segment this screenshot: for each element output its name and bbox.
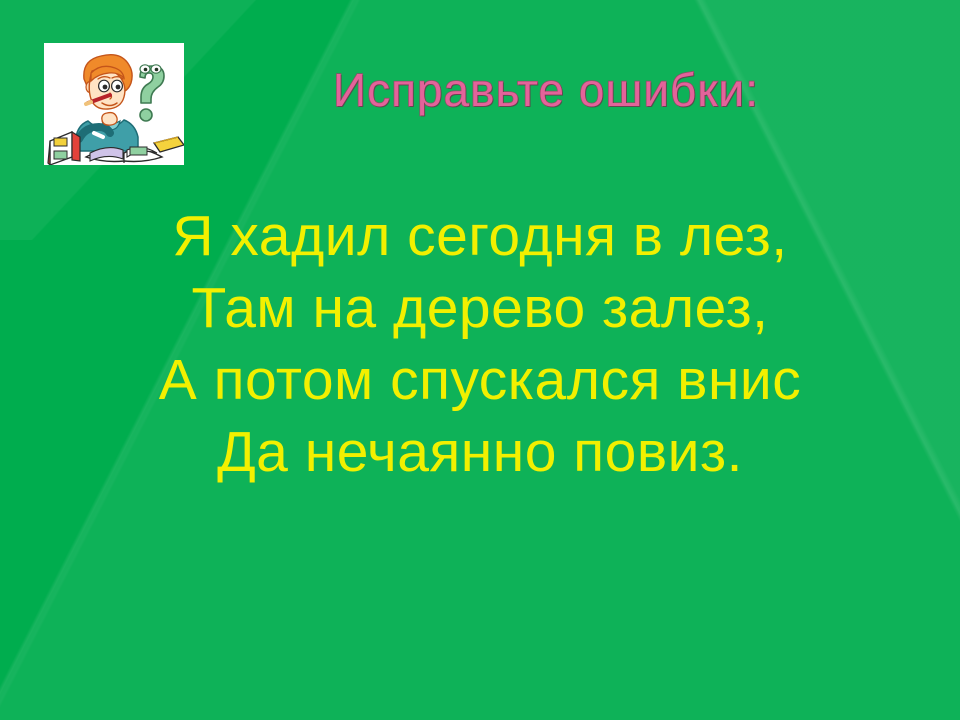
- presentation-slide: Исправьте ошибки: Я хадил сегодня в лез,…: [0, 0, 960, 720]
- boy-studying-icon: [44, 43, 184, 165]
- verse-line-1: Я хадил сегодня в лез,: [0, 200, 960, 272]
- verse-line-4: Да нечаянно повиз.: [0, 416, 960, 488]
- verse-line-3: А потом спускался внис: [0, 344, 960, 416]
- verse-text-block: Я хадил сегодня в лез, Там на дерево зал…: [0, 200, 960, 488]
- verse-line-2: Там на дерево залез,: [0, 272, 960, 344]
- page-title: Исправьте ошибки:: [196, 64, 896, 116]
- boy-studying-illustration: [44, 43, 184, 165]
